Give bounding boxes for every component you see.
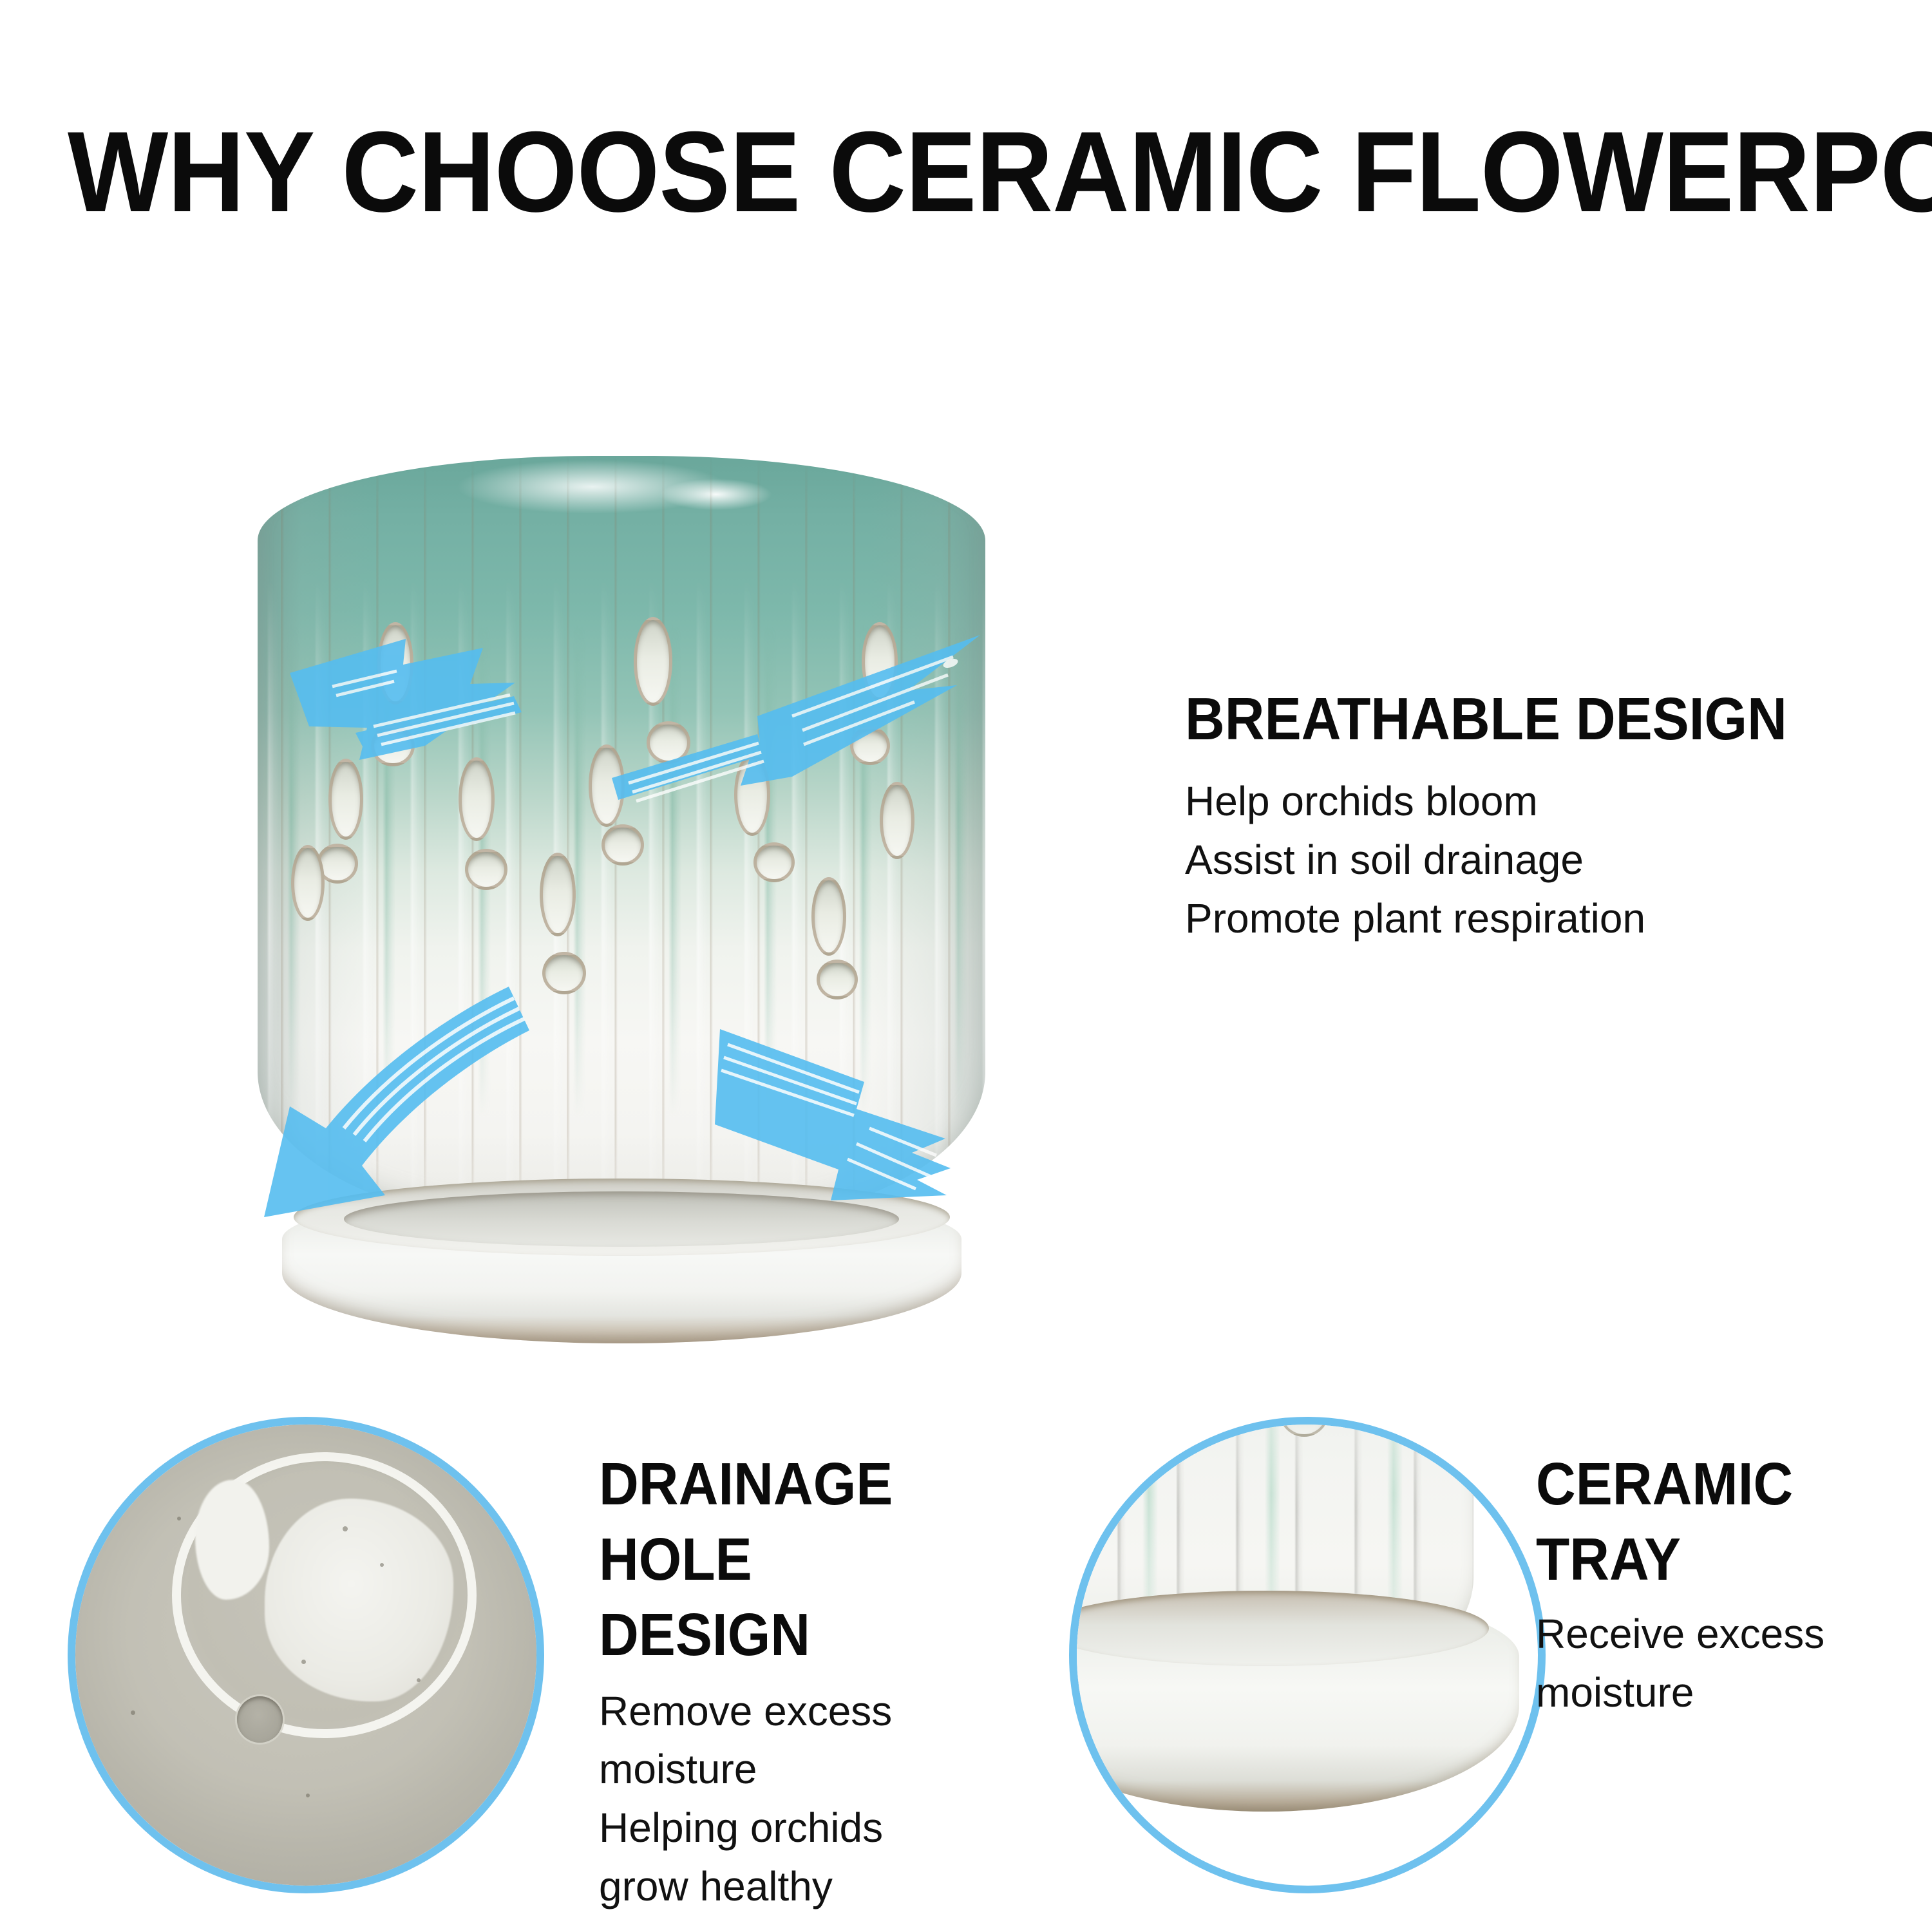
feature-ceramic-tray: CERAMIC TRAY Receive excess moisture [1536,1446,1903,1722]
drainage-hole-photo [75,1425,536,1886]
pot-hole [862,622,898,701]
feature-heading-breathable: BREATHABLE DESIGN [1185,681,1813,757]
feature-heading-tray: CERAMIC TRAY [1536,1446,1873,1597]
glaze-splotch [265,1499,454,1701]
pot-hole [880,782,914,859]
tray-dish-rim [1069,1591,1489,1666]
pot-hole [850,726,890,765]
pot-hole [734,753,770,836]
pot-hole [465,849,507,890]
page-title: WHY CHOOSE CERAMIC FLOWERPOTS [68,115,1864,229]
saucer-well [344,1191,899,1247]
surface-speck [343,1526,348,1531]
pot-hole [540,853,576,936]
tray-dish [1069,1591,1519,1812]
feature-heading-drainage: DRAINAGE HOLE DESIGN [599,1446,943,1673]
hero-product-photo [213,425,1024,1365]
feature-body-drainage: Remove excess moisture Helping orchids g… [599,1682,972,1917]
surface-speck [417,1678,421,1682]
pot-hole [601,824,644,866]
pot-hole [647,721,690,764]
pot-hole [634,617,672,706]
surface-speck [131,1710,135,1715]
feature-body-tray: Receive excess moisture [1536,1605,1903,1722]
flowerpot-body [258,456,985,1226]
pot-hole [753,842,795,882]
inset-photo-drainage-hole [68,1417,544,1893]
pot-hole [377,622,413,705]
surface-speck [380,1563,384,1567]
pot-hole [371,725,415,766]
pot-hole [811,877,846,956]
feature-body-breathable: Help orchids bloom Assist in soil draina… [1185,772,1868,948]
surface-speck [301,1660,306,1664]
glaze-splotch [195,1480,269,1600]
feature-drainage-hole-design: DRAINAGE HOLE DESIGN Remove excess moist… [599,1446,972,1916]
surface-speck [306,1794,310,1797]
pot-hole [542,952,586,994]
pot-hole [817,960,858,999]
feature-breathable-design: BREATHABLE DESIGN Help orchids bloom Ass… [1185,681,1868,948]
surface-speck [177,1517,181,1520]
pot-hole [589,744,625,827]
pot-hole [291,845,325,921]
ceramic-tray-photo [1077,1425,1538,1886]
pot-hole [328,759,363,840]
drainage-hole [237,1696,283,1743]
pot-hole [459,757,495,841]
ceramic-saucer [282,1179,961,1349]
inset-photo-ceramic-tray [1069,1417,1546,1893]
